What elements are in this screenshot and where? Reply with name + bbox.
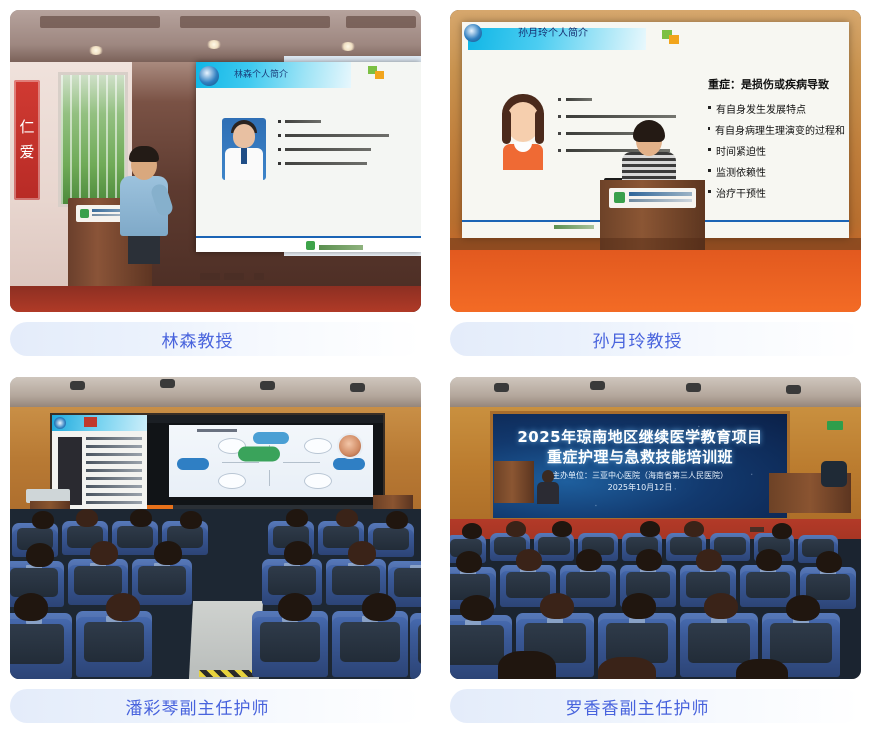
led-banner-screen: 2025年琼南地区继续医学教育项目 重症护理与急救技能培训班 主办单位：三亚中心…	[490, 411, 790, 521]
seat	[76, 611, 152, 677]
bullet-icon	[708, 148, 711, 151]
audience-head	[684, 521, 704, 537]
ceiling-light	[88, 46, 104, 55]
speaker-portrait	[222, 118, 266, 180]
banner-title-line-2: 重症护理与急救技能培训班	[493, 446, 787, 467]
audience-head	[704, 593, 738, 619]
gallery-item-2[interactable]: 孙月玲个人简介 . . . .	[440, 0, 879, 367]
portrait-tie	[241, 148, 247, 164]
gallery-item-3[interactable]: ... ... ...	[0, 367, 440, 735]
audience-head	[460, 595, 494, 621]
footer-text	[319, 245, 363, 250]
list-item: .	[278, 162, 400, 165]
audience-head	[278, 593, 312, 621]
bullet-icon	[558, 132, 561, 135]
audience-head	[336, 509, 358, 527]
bullet-text: 治疗干预性	[716, 185, 766, 200]
stage-floor	[450, 250, 861, 312]
list-item: 时间紧迫性	[708, 143, 845, 158]
list-item: .	[278, 120, 400, 123]
mindmap-node	[218, 473, 246, 489]
video-player[interactable]	[147, 415, 383, 523]
slide-footer	[196, 236, 421, 252]
mindmap-node	[304, 473, 332, 489]
mindmap-node-blue	[333, 458, 365, 470]
hospital-logo-icon	[54, 417, 66, 429]
caption-text: 潘彩琴副主任护师	[126, 694, 270, 719]
portrait-face	[233, 124, 255, 148]
bullet-icon	[558, 98, 561, 101]
mindmap-node-blue	[177, 458, 209, 470]
audience-head	[348, 541, 376, 565]
audience-head	[696, 549, 722, 571]
ceiling-spotlight	[260, 381, 275, 390]
projection-screen-left: 林森个人简介 . . . .	[196, 62, 421, 252]
audience-head	[552, 521, 572, 537]
audience-head	[756, 549, 782, 571]
floor-vent	[254, 273, 264, 280]
slide-header-bar	[52, 415, 147, 431]
audience-head	[284, 541, 312, 565]
wall-banner: 仁 爱	[14, 80, 40, 200]
audience-head	[462, 523, 482, 539]
slide-heading: 重症：是损伤或疾病导致	[708, 76, 845, 92]
audience-head	[516, 549, 542, 571]
portrait-hair-side-right	[535, 110, 544, 144]
caption-text: 孙月玲教授	[593, 327, 683, 352]
audience-area	[10, 509, 421, 679]
seat-rows	[450, 539, 861, 679]
audience-head	[32, 511, 54, 529]
photo-gallery: 仁 爱 引 林森个人简介 . .	[0, 0, 879, 735]
audience-head	[386, 511, 408, 529]
audience-head	[180, 511, 202, 529]
slide-title	[197, 429, 237, 432]
ceiling-spotlight	[590, 381, 605, 390]
ceiling-panel	[40, 16, 160, 28]
seat-rows	[10, 509, 421, 679]
mindmap-center-node	[238, 446, 280, 461]
bullet-text: 有自身发生发展特点	[716, 101, 806, 116]
slide-content-right: 重症：是损伤或疾病导致 有自身发生发展特点 有自身病理生理演变的过程和 时间紧迫…	[708, 76, 845, 206]
speaker-legs	[128, 234, 160, 264]
audience-head	[130, 509, 152, 527]
audience-head	[106, 593, 140, 621]
ceiling-light	[206, 40, 222, 49]
seat	[410, 613, 421, 679]
ceiling	[450, 377, 861, 411]
audience-head	[736, 659, 788, 679]
audience-head	[576, 549, 602, 571]
ceiling-spotlight	[70, 381, 85, 390]
audience-area	[450, 539, 861, 679]
speaker-body	[537, 482, 559, 504]
banner-char-2: 爱	[19, 145, 34, 160]
audience-head	[362, 593, 396, 621]
floor-vent	[750, 527, 764, 532]
mindmap-node-blue	[253, 432, 289, 444]
speaker-hair	[129, 146, 159, 162]
bullet-icon	[278, 134, 281, 137]
list-item: .	[278, 134, 400, 137]
gallery-item-4[interactable]: 2025年琼南地区继续医学教育项目 重症护理与急救技能培训班 主办单位：三亚中心…	[440, 367, 879, 735]
list-item: 监测依赖性	[708, 164, 845, 179]
speaker-person	[114, 142, 170, 262]
hospital-logo-icon	[199, 66, 219, 86]
caption-text: 罗香香副主任护师	[566, 694, 710, 719]
photo-潘彩琴副主任护师[interactable]: ... ... ...	[10, 377, 421, 679]
list-item: 治疗干预性	[708, 185, 845, 200]
audience-head	[598, 657, 656, 679]
photo-罗香香副主任护师[interactable]: 2025年琼南地区继续医学教育项目 重症护理与急救技能培训班 主办单位：三亚中心…	[450, 377, 861, 679]
seat	[132, 559, 192, 605]
bullet-icon	[558, 149, 561, 152]
ceiling-spotlight	[786, 385, 801, 394]
photo-林森教授[interactable]: 仁 爱 引 林森个人简介 . .	[10, 10, 421, 312]
ceiling-spotlight	[494, 383, 509, 392]
audience-head	[786, 595, 820, 621]
photo-caption-1: 林森教授	[10, 322, 421, 356]
audience-head	[640, 521, 660, 537]
podium-sign-line-2	[629, 199, 692, 202]
ceiling-light	[340, 42, 356, 51]
audience-head	[90, 541, 118, 565]
bullet-icon	[708, 127, 710, 130]
list-item: 有自身发生发展特点	[708, 101, 845, 116]
photo-caption-2: 孙月玲教授	[450, 322, 861, 356]
presenter-camera-avatar	[337, 433, 363, 459]
gallery-item-1[interactable]: 仁 爱 引 林森个人简介 . .	[0, 0, 440, 367]
seat	[10, 613, 72, 679]
bullet-icon	[708, 190, 711, 193]
ceiling-spotlight	[686, 383, 701, 392]
audience-head	[498, 651, 556, 679]
list-item: 有自身病理生理演变的过程和	[708, 122, 845, 137]
ceiling-panel	[346, 16, 416, 28]
bullet-text: 时间紧迫性	[716, 143, 766, 158]
bullet-icon	[278, 120, 281, 123]
decor-square-orange-icon	[669, 35, 679, 44]
hospital-logo-icon	[464, 24, 482, 42]
speaker-hair	[633, 120, 665, 142]
audience-head	[76, 509, 98, 527]
portrait-hair-side-left	[502, 110, 511, 144]
banner-title-line-1: 2025年琼南地区继续医学教育项目	[493, 426, 787, 447]
video-slide-content	[169, 425, 373, 497]
decor-square-orange-icon	[375, 71, 384, 79]
audience-head	[636, 549, 662, 571]
mindmap-node	[304, 438, 332, 454]
bullet-icon	[278, 162, 281, 165]
mindmap-link	[269, 470, 270, 486]
audience-head	[456, 551, 482, 573]
podium-logo-icon	[614, 192, 625, 203]
ceiling-spotlight	[350, 383, 365, 392]
speaker-person	[537, 470, 559, 504]
mindmap-link	[222, 462, 259, 463]
audience-head	[622, 593, 656, 619]
audience-head	[816, 551, 842, 573]
seat	[332, 611, 408, 677]
bullet-text: 有自身病理生理演变的过程和	[715, 122, 845, 137]
photo-孙月玲教授[interactable]: 孙月玲个人简介 . . . .	[450, 10, 861, 312]
office-chair	[821, 461, 847, 487]
floor-vent	[200, 273, 220, 280]
photo-caption-3: 潘彩琴副主任护师	[10, 689, 421, 723]
audience-head	[14, 593, 48, 621]
slide-heading-text: 重症：是损伤或疾病导致	[708, 78, 829, 91]
bullet-icon	[708, 169, 711, 172]
mindmap-link	[283, 462, 320, 463]
footer-logo-icon	[554, 225, 594, 229]
banner-char-1: 仁	[19, 120, 34, 135]
podium-logo-icon	[80, 209, 89, 218]
floor-vent	[224, 273, 244, 280]
list-item: .	[558, 98, 678, 101]
caption-text: 林森教授	[162, 327, 234, 352]
ceiling-spotlight	[160, 379, 175, 388]
audience-head	[154, 541, 182, 565]
slide-text-lines: ... ... ...	[86, 437, 142, 509]
bullet-icon	[558, 115, 561, 118]
podium-sign-line-1	[629, 192, 692, 196]
decor-block-red-icon	[84, 417, 97, 427]
bullet-icon	[278, 148, 281, 151]
photo-caption-4: 罗香香副主任护师	[450, 689, 861, 723]
slide-bullet-list: . . . .	[278, 120, 400, 176]
bullet-icon	[708, 106, 711, 109]
speaker-portrait	[500, 94, 546, 170]
video-titlebar	[147, 415, 383, 423]
audience-head	[26, 543, 54, 567]
podium-sign	[609, 188, 696, 208]
slide-title: 孙月玲个人简介	[518, 24, 588, 39]
podium	[494, 461, 534, 503]
stage-edge	[450, 238, 861, 250]
audience-head	[772, 523, 792, 539]
slide-title: 林森个人简介	[234, 67, 288, 80]
bullet-text: 监测依赖性	[716, 164, 766, 179]
audience-head	[506, 521, 526, 537]
list-item: .	[278, 148, 400, 151]
audience-head	[286, 509, 308, 527]
exit-sign	[827, 421, 843, 430]
audience-head	[540, 593, 574, 619]
footer-logo-icon	[306, 241, 315, 250]
stage-floor	[10, 286, 421, 312]
ceiling-panel	[180, 16, 330, 28]
